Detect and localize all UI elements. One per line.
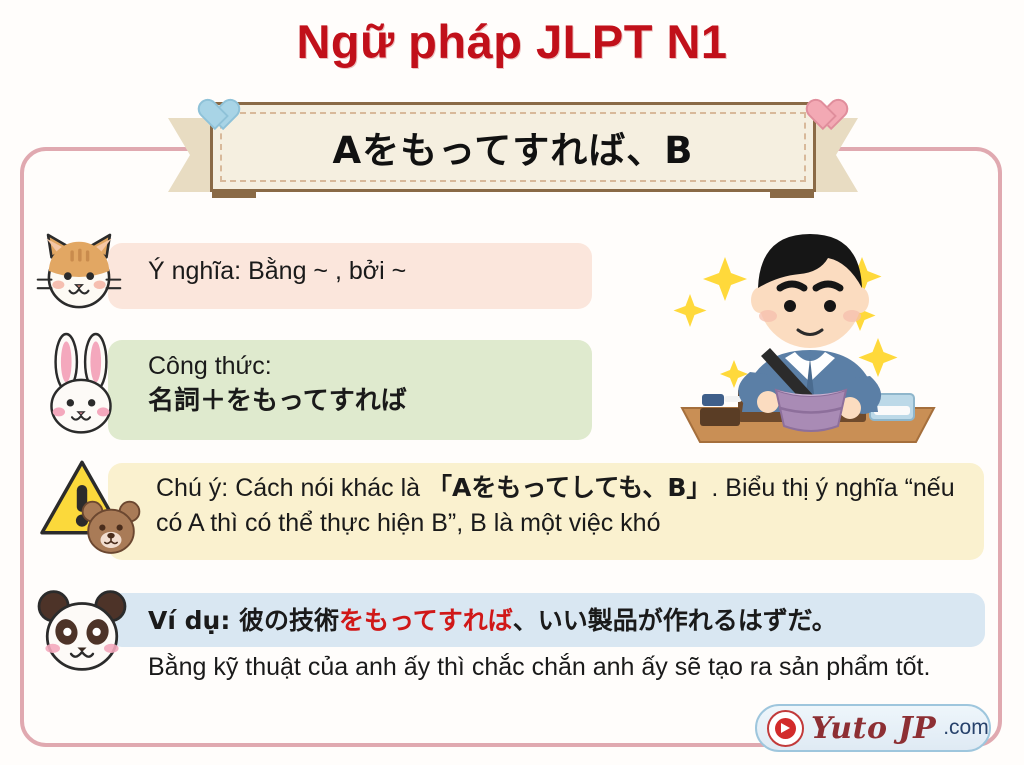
meaning-label: Ý nghĩa: bbox=[148, 257, 241, 285]
logo-tld: .com bbox=[943, 716, 989, 740]
meaning-row: Ý nghĩa: Bằng ~ , bởi ~ bbox=[108, 243, 592, 309]
example-jp-before: 彼の技術 bbox=[230, 606, 339, 635]
note-row: Chú ý: Cách nói khác là 「Aをもってしても、B」. Bi… bbox=[108, 463, 984, 560]
logo-name: Yuto JP bbox=[811, 711, 936, 746]
meaning-value: Bằng ~ , bởi ~ bbox=[241, 257, 406, 285]
formula-row: Công thức: 名詞＋をもってすれば bbox=[108, 340, 592, 440]
example-translation: Bằng kỹ thuật của anh ấy thì chắc chắn a… bbox=[148, 650, 968, 684]
heart-pink-icon bbox=[798, 86, 836, 120]
example-jp-after: 、いい製品が作れるはずだ。 bbox=[513, 606, 837, 635]
note-text-part1: Cách nói khác là bbox=[228, 474, 427, 502]
heart-blue-icon bbox=[190, 86, 228, 120]
ribbon-panel: Aをもってすれば、B bbox=[210, 102, 816, 192]
note-text: Chú ý: Cách nói khác là 「Aをもってしても、B」. Bi… bbox=[108, 463, 984, 540]
example-jp-highlight: をもってすれば bbox=[339, 606, 513, 635]
rabbit-icon bbox=[40, 330, 122, 438]
craftsman-pottery-illustration bbox=[650, 212, 970, 457]
grammar-point-text: Aをもってすれば、B bbox=[213, 105, 813, 189]
grammar-banner: Aをもってすれば、B bbox=[168, 88, 858, 198]
example-text: Ví dụ: 彼の技術をもってすれば、いい製品が作れるはずだ。 bbox=[108, 593, 851, 637]
formula-label: Công thức: bbox=[148, 350, 407, 384]
example-label: Ví dụ: bbox=[148, 606, 230, 635]
poster-canvas: Ngữ pháp JLPT N1 Aをもってすれば、B Ý nghĩa: Bằn… bbox=[0, 0, 1024, 765]
meaning-text: Ý nghĩa: Bằng ~ , bởi ~ bbox=[108, 243, 406, 286]
play-circle-icon bbox=[767, 710, 804, 747]
note-label: Chú ý: bbox=[156, 474, 228, 502]
note-alt-form: 「Aをもってしても、B」 bbox=[427, 473, 711, 502]
page-title: Ngữ pháp JLPT N1 bbox=[0, 12, 1024, 72]
formula-value: 名詞＋をもってすれば bbox=[148, 384, 407, 419]
formula-text: Công thức: 名詞＋をもってすれば bbox=[108, 340, 407, 418]
bear-icon bbox=[80, 498, 142, 556]
panda-icon bbox=[36, 588, 128, 674]
site-logo[interactable]: Yuto JP .com bbox=[755, 704, 991, 752]
cat-icon bbox=[36, 228, 122, 314]
example-row: Ví dụ: 彼の技術をもってすれば、いい製品が作れるはずだ。 bbox=[108, 593, 985, 647]
